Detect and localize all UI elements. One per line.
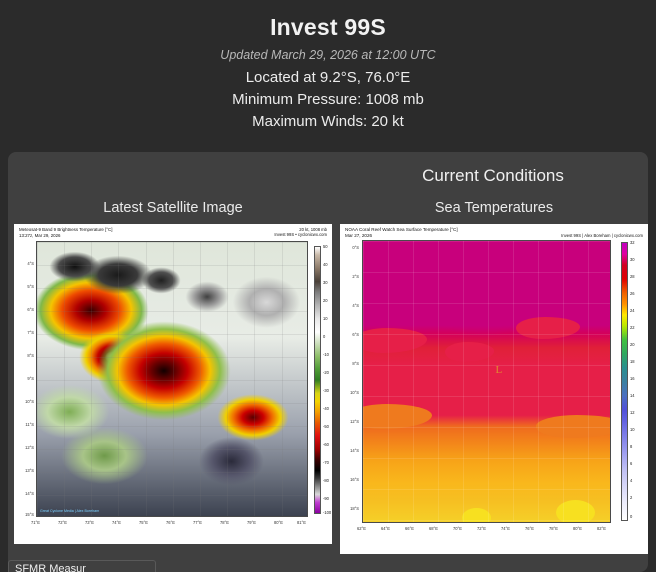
sst-cbar-tick: 12 — [630, 410, 635, 415]
satellite-figure-caption: Meteosat-9 Band 9 Brightness Temperature… — [19, 227, 327, 238]
satellite-figure[interactable]: Meteosat-9 Band 9 Brightness Temperature… — [14, 224, 332, 544]
sst-lat-tick: 2°S — [341, 274, 359, 279]
satellite-cbar-tick: 0 — [323, 334, 325, 339]
satellite-lat-tick: 9°S — [16, 376, 34, 381]
satellite-lat-tick: 15°S — [16, 512, 34, 517]
satellite-lon-tick: 80°E — [274, 520, 283, 525]
satellite-lon-tick: 72°E — [58, 520, 67, 525]
sst-lon-tick: 76°E — [525, 526, 534, 531]
sst-colorbar: 32 30 28 26 24 22 20 18 16 14 12 10 8 6 … — [621, 242, 628, 521]
sst-cbar-tick: 16 — [630, 376, 635, 381]
satellite-cbar-tick: 30 — [323, 280, 328, 285]
satellite-cbar-tick: 20 — [323, 298, 328, 303]
sst-attribution: Invest 99S | Alex Boreham | cyclonicwx.c… — [561, 233, 643, 238]
satellite-cbar-tick: -60 — [323, 442, 329, 447]
storm-header: Invest 99S Updated March 29, 2026 at 12:… — [0, 0, 656, 142]
panel-title-satellite: Latest Satellite Image — [14, 200, 332, 216]
satellite-map-plot[interactable]: Great Cyclone Media | Alex Boreham — [36, 241, 308, 517]
sst-lat-tick: 6°S — [341, 332, 359, 337]
sst-lat-tick: 8°S — [341, 361, 359, 366]
low-pressure-marker: L — [495, 364, 502, 376]
sst-cbar-tick: 14 — [630, 393, 635, 398]
satellite-lon-tick: 77°E — [193, 520, 202, 525]
satellite-lon-tick: 73°E — [85, 520, 94, 525]
sst-lon-tick: 72°E — [477, 526, 486, 531]
sst-cbar-tick: 26 — [630, 291, 635, 296]
satellite-cbar-tick: -70 — [323, 460, 329, 465]
sst-lon-tick: 78°E — [549, 526, 558, 531]
sst-cbar-tick: 20 — [630, 342, 635, 347]
sst-colorbar-gradient — [621, 242, 628, 521]
satellite-map-gridlines — [37, 242, 307, 516]
sst-lat-tick: 0°S — [341, 245, 359, 250]
satellite-attribution: Invest 99S • cyclonicwx.com — [274, 232, 327, 237]
sst-cbar-tick: 6 — [630, 461, 632, 466]
satellite-cbar-tick: -30 — [323, 388, 329, 393]
satellite-lon-tick: 76°E — [166, 520, 175, 525]
satellite-lat-tick: 6°S — [16, 307, 34, 312]
satellite-cbar-tick: -10 — [323, 352, 329, 357]
sst-figure-caption: NOAA Coral Reef Watch Sea Surface Temper… — [345, 227, 643, 239]
satellite-cbar-tick: -20 — [323, 370, 329, 375]
sst-lat-tick: 10°S — [341, 390, 359, 395]
satellite-cbar-tick: -100 — [323, 510, 331, 515]
satellite-cbar-tick: 50 — [323, 244, 328, 249]
satellite-lon-tick: 79°E — [247, 520, 256, 525]
sst-lon-tick: 66°E — [405, 526, 414, 531]
satellite-cbar-tick: -80 — [323, 478, 329, 483]
satellite-lon-tick: 75°E — [139, 520, 148, 525]
storm-location: Located at 9.2°S, 76.0°E — [10, 69, 646, 86]
sst-lat-tick: 12°S — [341, 419, 359, 424]
sst-lon-tick: 74°E — [501, 526, 510, 531]
current-conditions-card: Current Conditions Latest Satellite Imag… — [8, 152, 648, 572]
sst-map-gridlines — [363, 241, 610, 522]
sst-figure[interactable]: NOAA Coral Reef Watch Sea Surface Temper… — [340, 224, 648, 554]
panel-title-sea-temperatures: Sea Temperatures — [340, 200, 648, 216]
sst-cbar-tick: 0 — [630, 514, 632, 519]
satellite-caption-line2: 13:27z, Mar 29, 2026 — [19, 233, 112, 239]
satellite-lon-tick: 81°E — [297, 520, 306, 525]
satellite-lon-tick: 78°E — [220, 520, 229, 525]
sst-caption-line1: NOAA Coral Reef Watch Sea Surface Temper… — [345, 227, 458, 233]
sst-caption-line2: Mar 27, 2026 — [345, 233, 458, 239]
sst-cbar-tick: 8 — [630, 444, 632, 449]
sst-cbar-tick: 4 — [630, 478, 632, 483]
sst-cbar-tick: 22 — [630, 325, 635, 330]
satellite-lat-tick: 7°S — [16, 330, 34, 335]
sst-lon-tick: 68°E — [429, 526, 438, 531]
panel-sea-temperatures: Sea Temperatures NOAA Coral Reef Watch S… — [340, 200, 648, 554]
next-section-partial[interactable]: SFMR Measur — [8, 560, 156, 572]
satellite-intensity-label: 20 kt, 1008 mb — [274, 227, 327, 232]
sst-cbar-tick: 24 — [630, 308, 635, 313]
sst-cbar-tick: 2 — [630, 495, 632, 500]
storm-min-pressure: Minimum Pressure: 1008 mb — [10, 91, 646, 108]
sst-map-plot[interactable]: L — [362, 240, 611, 523]
satellite-cbar-tick: -40 — [323, 406, 329, 411]
sst-lat-tick: 18°S — [341, 506, 359, 511]
sst-cbar-tick: 30 — [630, 257, 635, 262]
sst-lon-tick: 82°E — [597, 526, 606, 531]
satellite-caption-line1: Meteosat-9 Band 9 Brightness Temperature… — [19, 227, 112, 233]
last-updated-text: Updated March 29, 2026 at 12:00 UTC — [10, 48, 646, 62]
sst-lat-tick: 16°S — [341, 477, 359, 482]
next-section-heading: SFMR Measur — [15, 563, 86, 572]
satellite-cbar-tick: -50 — [323, 424, 329, 429]
satellite-cbar-tick: -90 — [323, 496, 329, 501]
satellite-lat-tick: 4°S — [16, 261, 34, 266]
sst-lat-tick: 4°S — [341, 303, 359, 308]
satellite-lon-tick: 74°E — [112, 520, 121, 525]
sst-lon-tick: 62°E — [357, 526, 366, 531]
sst-lon-tick: 64°E — [381, 526, 390, 531]
satellite-lat-tick: 8°S — [16, 353, 34, 358]
satellite-watermark: Great Cyclone Media | Alex Boreham — [40, 509, 99, 513]
satellite-lon-tick: 71°E — [31, 520, 40, 525]
satellite-lat-tick: 12°S — [16, 445, 34, 450]
sst-lon-tick: 80°E — [573, 526, 582, 531]
sst-cbar-tick: 18 — [630, 359, 635, 364]
satellite-colorbar: 50 40 30 20 10 0 -10 -20 -30 -40 -50 -60… — [314, 246, 321, 514]
satellite-lat-tick: 11°S — [16, 422, 34, 427]
satellite-lat-tick: 10°S — [16, 399, 34, 404]
sst-lat-tick: 14°S — [341, 448, 359, 453]
sst-lon-tick: 70°E — [453, 526, 462, 531]
satellite-lat-tick: 5°S — [16, 284, 34, 289]
sst-cbar-tick: 10 — [630, 427, 635, 432]
satellite-lat-tick: 14°S — [16, 491, 34, 496]
panel-container: Latest Satellite Image Meteosat-9 Band 9… — [8, 152, 648, 572]
sst-cbar-tick: 28 — [630, 274, 635, 279]
satellite-colorbar-gradient — [314, 246, 321, 514]
satellite-cbar-tick: 40 — [323, 262, 328, 267]
panel-latest-satellite-image: Latest Satellite Image Meteosat-9 Band 9… — [14, 200, 332, 544]
satellite-cbar-tick: 10 — [323, 316, 328, 321]
sst-cbar-tick: 32 — [630, 240, 635, 245]
page-title: Invest 99S — [10, 14, 646, 41]
storm-max-winds: Maximum Winds: 20 kt — [10, 113, 646, 130]
satellite-lat-tick: 13°S — [16, 468, 34, 473]
